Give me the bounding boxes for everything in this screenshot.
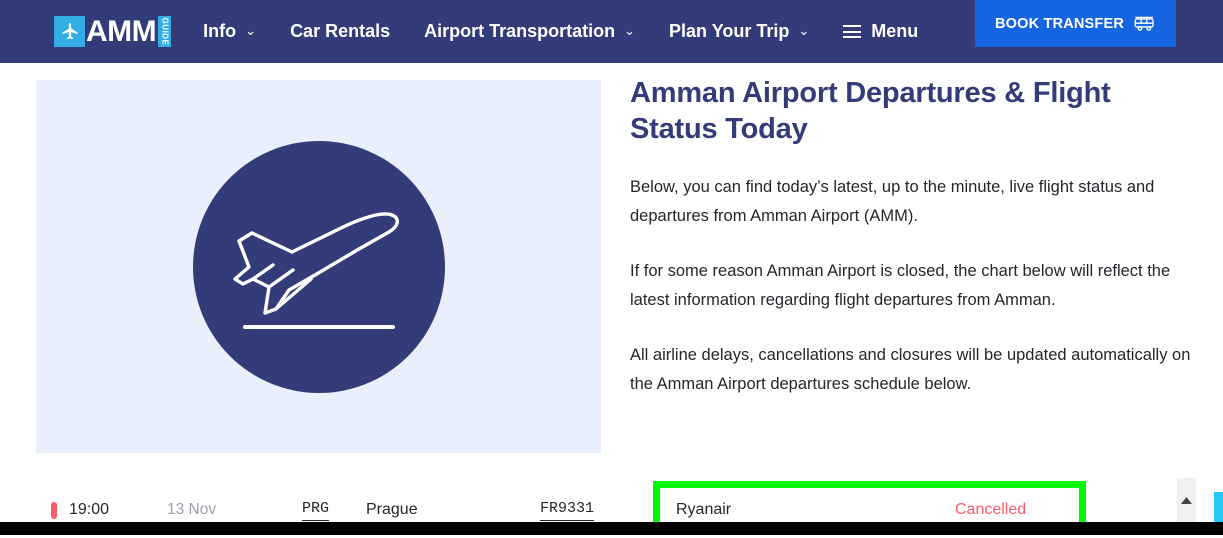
scrollbar-thumb[interactable] bbox=[1214, 492, 1223, 522]
bottom-black-bar bbox=[0, 522, 1223, 535]
page-title: Amman Airport Departures & Flight Status… bbox=[630, 75, 1195, 147]
destination-code[interactable]: PRG bbox=[302, 500, 329, 521]
nav-item-airport-transportation-label: Airport Transportation bbox=[424, 21, 615, 42]
airplane-icon bbox=[54, 16, 85, 47]
nav-item-car-rentals-label: Car Rentals bbox=[290, 21, 390, 42]
nav-item-info-label: Info bbox=[203, 21, 236, 42]
nav-menu: Info ⌄ Car Rentals Airport Transportatio… bbox=[203, 0, 918, 63]
status-indicator-bar bbox=[51, 502, 57, 519]
article-paragraph-1: Below, you can find today’s latest, up t… bbox=[630, 173, 1195, 231]
nav-item-plan-your-trip[interactable]: Plan Your Trip ⌄ bbox=[669, 21, 809, 42]
flight-time: 19:00 bbox=[69, 501, 109, 519]
hero-illustration-panel bbox=[36, 80, 601, 453]
book-transfer-button[interactable]: BOOK TRANSFER bbox=[975, 0, 1176, 47]
nav-item-menu[interactable]: Menu bbox=[843, 21, 918, 42]
nav-item-plan-your-trip-label: Plan Your Trip bbox=[669, 21, 789, 42]
flight-date: 13 Nov bbox=[167, 501, 216, 519]
top-navigation-bar: AMM GUIDE Info ⌄ Car Rentals Airport Tra… bbox=[0, 0, 1223, 63]
logo-text: AMM bbox=[86, 16, 156, 47]
article-paragraph-3: All airline delays, cancellations and cl… bbox=[630, 341, 1195, 399]
site-logo[interactable]: AMM GUIDE bbox=[54, 16, 171, 48]
destination-city: Prague bbox=[366, 501, 418, 519]
flight-number[interactable]: FR9331 bbox=[540, 500, 594, 521]
airline-name: Ryanair bbox=[676, 501, 731, 519]
nav-item-car-rentals[interactable]: Car Rentals bbox=[290, 21, 390, 42]
chevron-down-icon: ⌄ bbox=[624, 24, 635, 37]
nav-item-menu-label: Menu bbox=[871, 21, 918, 42]
page-scrollbar[interactable] bbox=[1214, 63, 1223, 522]
chevron-down-icon: ⌄ bbox=[245, 24, 256, 37]
book-transfer-label: BOOK TRANSFER bbox=[995, 16, 1124, 32]
status-badge: Cancelled bbox=[955, 501, 1026, 519]
article-block: Amman Airport Departures & Flight Status… bbox=[630, 75, 1195, 399]
bus-icon bbox=[1134, 16, 1156, 32]
logo-guide-badge: GUIDE bbox=[158, 16, 171, 47]
departing-airplane-icon bbox=[193, 141, 445, 393]
chevron-up-icon bbox=[1181, 497, 1192, 504]
logo-guide-text: GUIDE bbox=[160, 18, 169, 46]
nav-item-info[interactable]: Info ⌄ bbox=[203, 21, 256, 42]
article-paragraph-2: If for some reason Amman Airport is clos… bbox=[630, 257, 1195, 315]
chevron-down-icon: ⌄ bbox=[798, 24, 809, 37]
nav-item-airport-transportation[interactable]: Airport Transportation ⌄ bbox=[424, 21, 635, 42]
hamburger-icon bbox=[843, 25, 861, 38]
scroll-to-top-button[interactable] bbox=[1177, 478, 1196, 522]
